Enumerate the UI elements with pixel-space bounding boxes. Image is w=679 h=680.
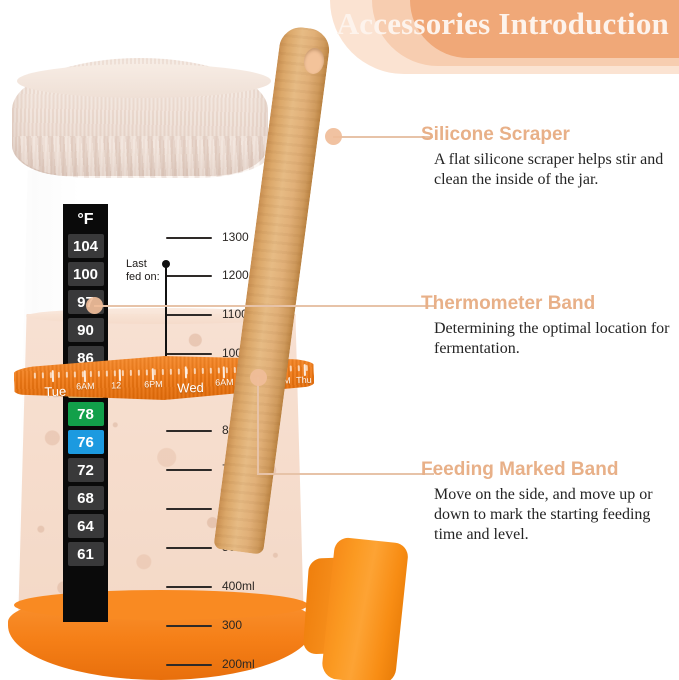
thermometer-cell-68: 68 xyxy=(68,486,104,510)
feeding-band-tick-major xyxy=(52,370,54,382)
thermometer-unit-label: °F xyxy=(77,212,93,228)
feeding-band-label-wed: Wed xyxy=(177,380,204,396)
thermometer-strip: °F 10410097908682787672686461 xyxy=(63,204,108,622)
feeding-band-tick-minor xyxy=(114,370,116,376)
callout-body-silicone-scraper: A flat silicone scraper helps stir and c… xyxy=(434,150,673,190)
feeding-band-label-thu: Thu xyxy=(296,375,312,385)
feeding-band-tick-minor xyxy=(34,373,36,379)
feeding-band-tick-minor xyxy=(50,372,52,378)
volume-mark-label: 400ml xyxy=(222,579,255,593)
feeding-band-tick-minor xyxy=(178,369,180,375)
feeding-band-label-12: 12 xyxy=(111,380,121,390)
volume-mark-row: 300 xyxy=(118,618,308,632)
callout-body-feeding-marked-band: Move on the side, and move up or down to… xyxy=(434,485,677,545)
feeding-band-tick-minor xyxy=(194,368,196,374)
thermometer-cell-72: 72 xyxy=(68,458,104,482)
feeding-band-tick-minor xyxy=(234,367,236,373)
feeding-marked-band[interactable]: Tue6AM126PMWed6AM126PMThu xyxy=(13,352,314,404)
volume-tick-icon xyxy=(166,586,212,588)
fabric-jar-cover xyxy=(12,58,268,176)
callout-line-feeding-vertical xyxy=(257,377,259,475)
last-fed-label: Last fed on: xyxy=(126,258,160,284)
feeding-band-tick-minor xyxy=(154,369,156,375)
volume-mark-row: 1300 xyxy=(118,230,308,244)
jar-cover-rim xyxy=(17,64,271,98)
volume-tick-icon xyxy=(166,625,212,627)
volume-mark-row: 500 xyxy=(118,540,308,554)
feeding-band-tick-minor xyxy=(98,371,100,377)
volume-mark-label: 1300 xyxy=(222,230,249,244)
callout-silicone-scraper: Silicone Scraper A flat silicone scraper… xyxy=(421,124,673,190)
volume-mark-label: 600ml xyxy=(222,501,255,515)
callout-line-silicone-scraper xyxy=(333,136,433,138)
feeding-band-tick-minor xyxy=(218,367,220,373)
volume-mark-row: 800ml xyxy=(118,423,308,437)
thermometer-cell-61: 61 xyxy=(68,542,104,566)
volume-tick-icon xyxy=(166,430,212,432)
callout-dot-thermometer-band xyxy=(86,297,103,314)
feeding-band-tick-minor xyxy=(122,370,124,376)
volume-mark-label: 500 xyxy=(222,540,242,554)
feeding-band-tick-minor xyxy=(306,365,308,371)
volume-tick-icon xyxy=(166,314,212,316)
callout-dot-silicone-scraper xyxy=(325,128,342,145)
volume-tick-icon xyxy=(166,547,212,549)
page-title: Accessories Introduction xyxy=(337,6,669,42)
feeding-band-label-6pm: 6PM xyxy=(144,379,163,390)
thermometer-cell-76: 76 xyxy=(68,430,104,454)
volume-tick-icon xyxy=(166,508,212,510)
thermometer-cell-78: 78 xyxy=(68,402,104,426)
feeding-band-tick-minor xyxy=(138,370,140,376)
feeding-band-tick-minor xyxy=(42,372,44,378)
volume-tick-icon xyxy=(166,664,212,666)
feeding-band-tick-minor xyxy=(170,369,172,375)
feeding-band-label-6pm: 6PM xyxy=(272,375,291,386)
callout-title-feeding-marked-band: Feeding Marked Band xyxy=(421,459,677,481)
feeding-band-tick-minor xyxy=(298,365,300,371)
callout-line-thermometer-band xyxy=(94,305,434,307)
callout-thermometer-band: Thermometer Band Determining the optimal… xyxy=(421,293,673,359)
callout-body-thermometer-band: Determining the optimal location for fer… xyxy=(434,319,673,359)
volume-mark-label: 1200ml xyxy=(222,268,261,282)
volume-mark-row: 600ml xyxy=(118,501,308,515)
callout-title-silicone-scraper: Silicone Scraper xyxy=(421,124,673,146)
volume-mark-row: 400ml xyxy=(118,579,308,593)
callout-title-thermometer-band: Thermometer Band xyxy=(421,293,673,315)
infographic-canvas: Accessories Introduction °F 104100979086… xyxy=(0,0,679,680)
feeding-band-label-6am: 6AM xyxy=(76,381,95,392)
feeding-band-tick-minor xyxy=(202,368,204,374)
volume-tick-icon xyxy=(166,469,212,471)
feeding-band-tick-minor xyxy=(210,368,212,374)
feeding-band-tick-minor xyxy=(82,371,84,377)
callout-feeding-marked-band: Feeding Marked Band Move on the side, an… xyxy=(421,459,677,545)
volume-scale: 13001200ml11001000ml800ml700600ml500400m… xyxy=(118,170,308,640)
volume-mark-label: 800ml xyxy=(222,423,255,437)
feeding-band-tick-minor xyxy=(274,366,276,372)
callout-line-feeding-horizontal xyxy=(257,473,434,475)
volume-mark-row: 200ml xyxy=(118,657,308,671)
feeding-band-tick-minor xyxy=(106,371,108,377)
sourdough-starter-jar: °F 10410097908682787672686461 13001200ml… xyxy=(8,52,328,672)
feeding-band-label-tue: Tue xyxy=(44,384,66,400)
feeding-band-tick-minor xyxy=(226,367,228,373)
thermometer-cell-104: 104 xyxy=(68,234,104,258)
feeding-band-label-6am: 6AM xyxy=(215,377,234,388)
volume-mark-row: 1100 xyxy=(118,307,308,321)
callout-dot-feeding-marked-band xyxy=(250,369,267,386)
feeding-band-tick-minor xyxy=(74,371,76,377)
volume-tick-icon xyxy=(166,237,212,239)
feeding-band-tick-minor xyxy=(266,366,268,372)
volume-mark-label: 700 xyxy=(222,462,242,476)
feeding-band-tick-minor xyxy=(146,369,148,375)
volume-mark-label: 300 xyxy=(222,618,242,632)
feeding-band-tick-minor xyxy=(290,365,292,371)
feeding-band-tick-minor xyxy=(130,370,132,376)
thermometer-cell-100: 100 xyxy=(68,262,104,286)
feeding-band-tick-minor xyxy=(90,371,92,377)
feeding-band-tick-minor xyxy=(58,372,60,378)
volume-mark-label: 200ml xyxy=(222,657,255,671)
feeding-band-tick-minor xyxy=(282,366,284,372)
feeding-band-tick-minor xyxy=(242,367,244,373)
thermometer-cell-90: 90 xyxy=(68,318,104,342)
volume-mark-label: 1100 xyxy=(222,307,248,321)
thermometer-cell-64: 64 xyxy=(68,514,104,538)
volume-tick-icon xyxy=(166,275,212,277)
feeding-band-tick-minor xyxy=(66,372,68,378)
feeding-band-tick-minor xyxy=(162,369,164,375)
scraper-silicone-blade xyxy=(321,537,409,680)
feeding-band-tick-minor xyxy=(186,368,188,374)
